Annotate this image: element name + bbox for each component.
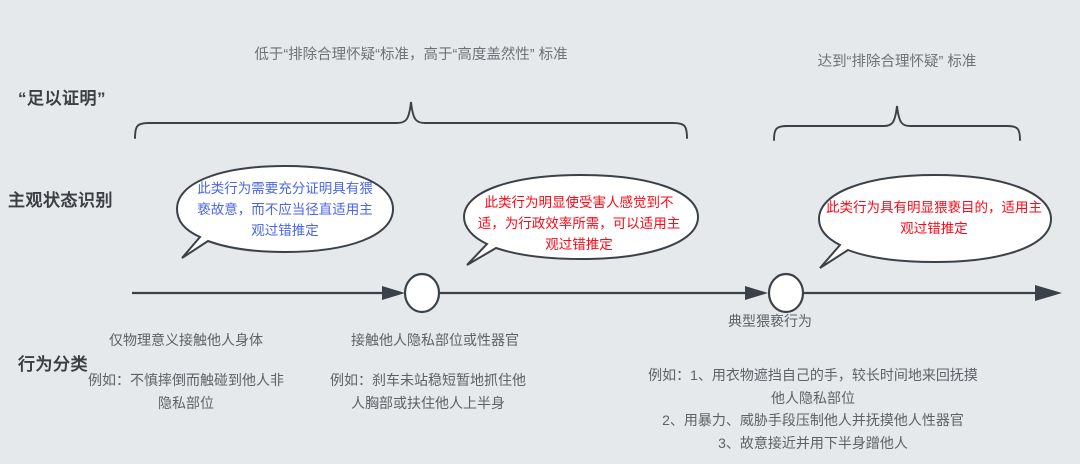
speech-bubble-3-text: 此类行为具有明显猥亵目的，适用主观过错推定 (826, 198, 1042, 240)
axis-arrowhead-1 (382, 286, 405, 300)
row-label-subjective-state: 主观状态识别 (8, 186, 113, 211)
brace-middle-standard (132, 92, 692, 140)
axis-arrowhead-2 (745, 286, 768, 300)
row-label-proof-standard: “足以证明” (18, 84, 106, 109)
speech-bubble-1-text: 此类行为需要充分证明具有猥亵故意，而不应当径直适用主观过错推定 (191, 179, 379, 242)
axis-node-1 (405, 274, 439, 312)
diagram-canvas: “足以证明” 主观状态识别 行为分类 低于“排除合理怀疑“标准，高于“高度盖然性… (0, 0, 1080, 464)
conduct-column-3-example: 例如：1、用衣物遮挡自己的手，较长时间地来回抚摸他人隐私部位 2、用暴力、威胁手… (645, 364, 981, 455)
conduct-column-2-example: 例如：刹车未站稳短暂地抓住他人胸部或扶住他人上半身 (330, 369, 526, 414)
conduct-column-2-title: 接触他人隐私部位或性器官 (325, 330, 545, 350)
conduct-column-1-title: 仅物理意义接触他人身体 (80, 330, 292, 350)
speech-bubble-2-text: 此类行为明显使受害人感觉到不适，为行政效率所需，可以适用主观过错推定 (473, 193, 685, 256)
axis-node-2 (769, 274, 803, 312)
axis-arrowhead-3 (1035, 285, 1062, 301)
brace-high-standard (771, 100, 1026, 144)
standard-caption-middle: 低于“排除合理怀疑“标准，高于“高度盖然性” 标准 (136, 43, 686, 64)
row-label-conduct-classification: 行为分类 (18, 350, 88, 375)
standard-caption-high: 达到“排除合理怀疑” 标准 (775, 50, 1019, 71)
conduct-column-1-example: 例如：不慎摔倒而触碰到他人非隐私部位 (86, 369, 286, 414)
conduct-column-3-title: 典型猥亵行为 (690, 311, 850, 331)
